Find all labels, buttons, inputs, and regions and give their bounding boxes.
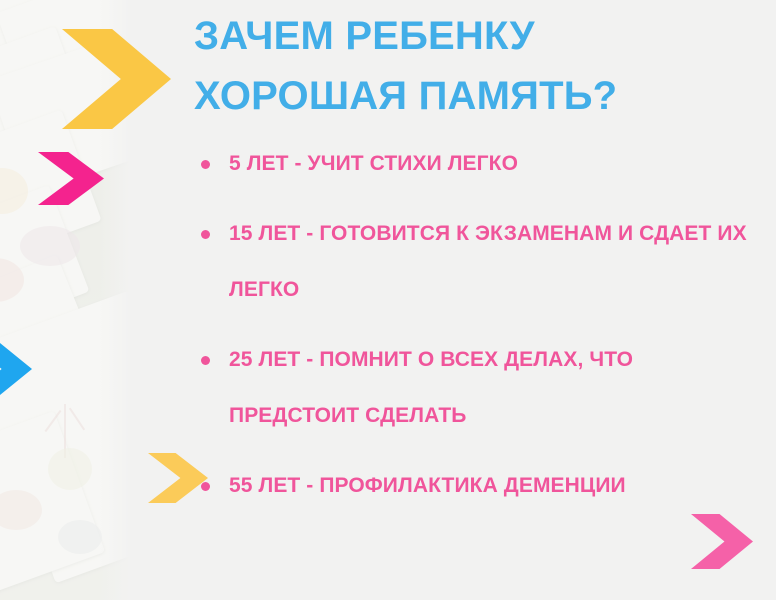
poster-title: ЗАЧЕМ РЕБЕНКУ ХОРОШАЯ ПАМЯТЬ? — [194, 6, 754, 126]
poster-canvas: ЗАЧЕМ РЕБЕНКУ ХОРОШАЯ ПАМЯТЬ? 5 ЛЕТ - УЧ… — [0, 0, 776, 600]
list-item-label: 15 ЛЕТ - ГОТОВИТСЯ К ЭКЗАМЕНАМ И СДАЕТ И… — [229, 206, 767, 318]
list-item-label: 55 ЛЕТ - ПРОФИЛАКТИКА ДЕМЕНЦИИ — [229, 458, 767, 514]
content-area: ЗАЧЕМ РЕБЕНКУ ХОРОШАЯ ПАМЯТЬ? 5 ЛЕТ - УЧ… — [133, 0, 776, 600]
list-item: 5 ЛЕТ - УЧИТ СТИХИ ЛЕГКО — [201, 136, 767, 192]
list-item: 55 ЛЕТ - ПРОФИЛАКТИКА ДЕМЕНЦИИ — [201, 458, 767, 514]
bullet-dot-icon — [201, 482, 210, 491]
list-item-label: 5 ЛЕТ - УЧИТ СТИХИ ЛЕГКО — [229, 136, 767, 192]
list-item: 15 ЛЕТ - ГОТОВИТСЯ К ЭКЗАМЕНАМ И СДАЕТ И… — [201, 206, 767, 318]
list-item-label: 25 ЛЕТ - ПОМНИТ О ВСЕХ ДЕЛАХ, ЧТО ПРЕДСТ… — [229, 332, 767, 444]
benefits-list: 5 ЛЕТ - УЧИТ СТИХИ ЛЕГКО 15 ЛЕТ - ГОТОВИ… — [201, 136, 767, 514]
bullet-dot-icon — [201, 230, 210, 239]
bullet-dot-icon — [201, 160, 210, 169]
list-item: 25 ЛЕТ - ПОМНИТ О ВСЕХ ДЕЛАХ, ЧТО ПРЕДСТ… — [201, 332, 767, 444]
bullet-dot-icon — [201, 356, 210, 365]
